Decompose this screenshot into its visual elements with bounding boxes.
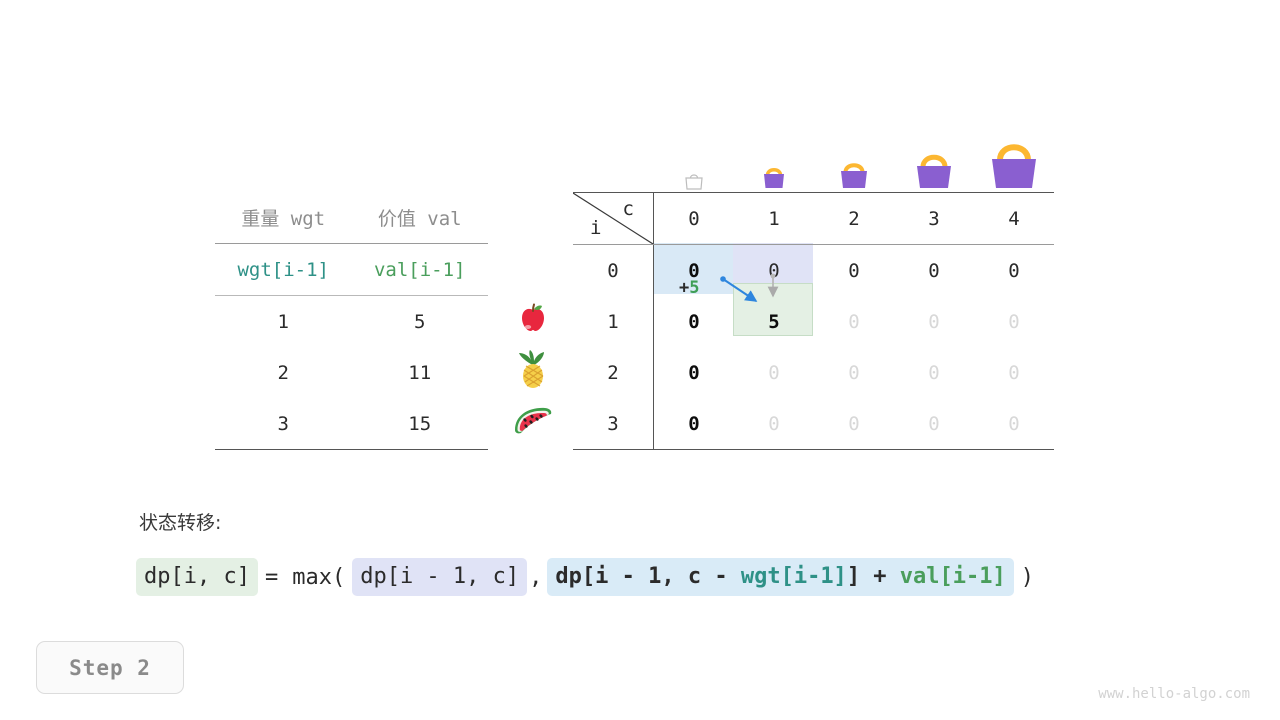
dp-cell-2-0: 0: [654, 347, 735, 398]
items-subheader-val: val[i-1]: [352, 244, 489, 296]
dp-cell-1-2: 0: [814, 296, 894, 347]
dp-row-0: 0 0 0 0 0 0: [573, 245, 1054, 297]
dp-corner-cell: i c: [573, 193, 654, 245]
item-weight-1: 1: [215, 296, 352, 348]
dp-cell-0-2: 0: [814, 245, 894, 297]
gain-value: 5: [689, 278, 699, 298]
dp-row-1: 1 0 5 0 0 0: [573, 296, 1054, 347]
items-row-1: 1 5: [215, 296, 488, 348]
formula-take-prefix: dp[i - 1, c -: [555, 564, 740, 589]
transition-formula: dp[i, c] = max( dp[i - 1, c] , dp[i - 1,…: [136, 558, 1041, 596]
corner-diagonal-icon: [573, 193, 653, 244]
item-value-3: 15: [352, 398, 489, 450]
dp-cell-2-4: 0: [974, 347, 1054, 398]
dp-cell-1-0: 0: [654, 296, 735, 347]
bag-capacity-icons: [654, 124, 1054, 190]
items-row-3: 3 15: [215, 398, 488, 450]
gain-label: +5: [679, 278, 700, 298]
dp-table-grid: i c 0 1 2 3 4 0 0 0 0 0 0 1 0 5 0 0 0 2: [573, 192, 1054, 450]
dp-col-header-4: 4: [974, 193, 1054, 245]
dp-cell-0-1: 0: [734, 245, 814, 297]
item-value-1: 5: [352, 296, 489, 348]
items-table-header-row: 重量 wgt 价值 val: [215, 192, 488, 244]
formula-take-term: dp[i - 1, c - wgt[i-1]] + val[i-1]: [547, 558, 1013, 596]
dp-cell-3-1: 0: [734, 398, 814, 450]
apple-icon: [505, 292, 561, 343]
dp-row-header-3: 3: [573, 398, 654, 450]
formula-comma: ,: [527, 565, 547, 590]
items-header-weight: 重量 wgt: [215, 192, 352, 244]
bag-icon-4: [974, 124, 1054, 190]
dp-cell-2-1: 0: [734, 347, 814, 398]
gain-sign: +: [679, 278, 689, 298]
dp-cell-3-4: 0: [974, 398, 1054, 450]
item-weight-2: 2: [215, 347, 352, 398]
watermelon-icon: [505, 394, 561, 445]
dp-row-header-0: 0: [573, 245, 654, 297]
dp-col-header-2: 2: [814, 193, 894, 245]
dp-row-2: 2 0 0 0 0 0: [573, 347, 1054, 398]
items-table-grid: 重量 wgt 价值 val wgt[i-1] val[i-1] 1 5 2 11…: [215, 192, 488, 450]
dp-cell-3-0: 0: [654, 398, 735, 450]
dp-table: i c 0 1 2 3 4 0 0 0 0 0 0 1 0 5 0 0 0 2: [573, 192, 1054, 447]
bag-icon-0: [654, 124, 734, 190]
dp-cell-3-2: 0: [814, 398, 894, 450]
formula-skip-term: dp[i - 1, c]: [352, 558, 527, 596]
pineapple-icon: [505, 343, 561, 394]
dp-cell-0-3: 0: [894, 245, 974, 297]
formula-wgt-token: wgt[i-1]: [741, 564, 847, 589]
dp-col-header-0: 0: [654, 193, 735, 245]
bag-icon-2: [814, 124, 894, 190]
item-weight-3: 3: [215, 398, 352, 450]
formula-val-token: val[i-1]: [900, 564, 1006, 589]
dp-row-3: 3 0 0 0 0 0: [573, 398, 1054, 450]
dp-cell-2-3: 0: [894, 347, 974, 398]
dp-col-header-3: 3: [894, 193, 974, 245]
dp-cell-2-2: 0: [814, 347, 894, 398]
dp-col-header-1: 1: [734, 193, 814, 245]
items-table: 重量 wgt 价值 val wgt[i-1] val[i-1] 1 5 2 11…: [215, 192, 488, 450]
bag-icon-1: [734, 124, 814, 190]
dp-cell-1-1: 5: [734, 296, 814, 347]
items-header-value: 价值 val: [352, 192, 489, 244]
fruit-icon-column: [505, 292, 561, 445]
watermark: www.hello-algo.com: [1098, 686, 1250, 702]
dp-row-header-1: 1: [573, 296, 654, 347]
dp-cell-3-3: 0: [894, 398, 974, 450]
dp-cell-1-3: 0: [894, 296, 974, 347]
formula-max-open: max(: [285, 565, 352, 590]
bag-icon-3: [894, 124, 974, 190]
items-table-subheader-row: wgt[i-1] val[i-1]: [215, 244, 488, 296]
dp-header-row: i c 0 1 2 3 4: [573, 193, 1054, 245]
formula-equals: =: [258, 565, 285, 590]
dp-cell-0-4: 0: [974, 245, 1054, 297]
step-badge: Step 2: [36, 641, 184, 694]
formula-close-paren: ): [1014, 565, 1041, 590]
dp-corner-col-label: c: [623, 198, 634, 220]
dp-cell-1-4: 0: [974, 296, 1054, 347]
formula-target-term: dp[i, c]: [136, 558, 258, 596]
items-subheader-wgt: wgt[i-1]: [215, 244, 352, 296]
dp-corner-row-label: i: [590, 217, 601, 239]
formula-take-mid: ] +: [847, 564, 900, 589]
item-value-2: 11: [352, 347, 489, 398]
items-row-2: 2 11: [215, 347, 488, 398]
transition-label: 状态转移:: [139, 508, 221, 535]
dp-row-header-2: 2: [573, 347, 654, 398]
